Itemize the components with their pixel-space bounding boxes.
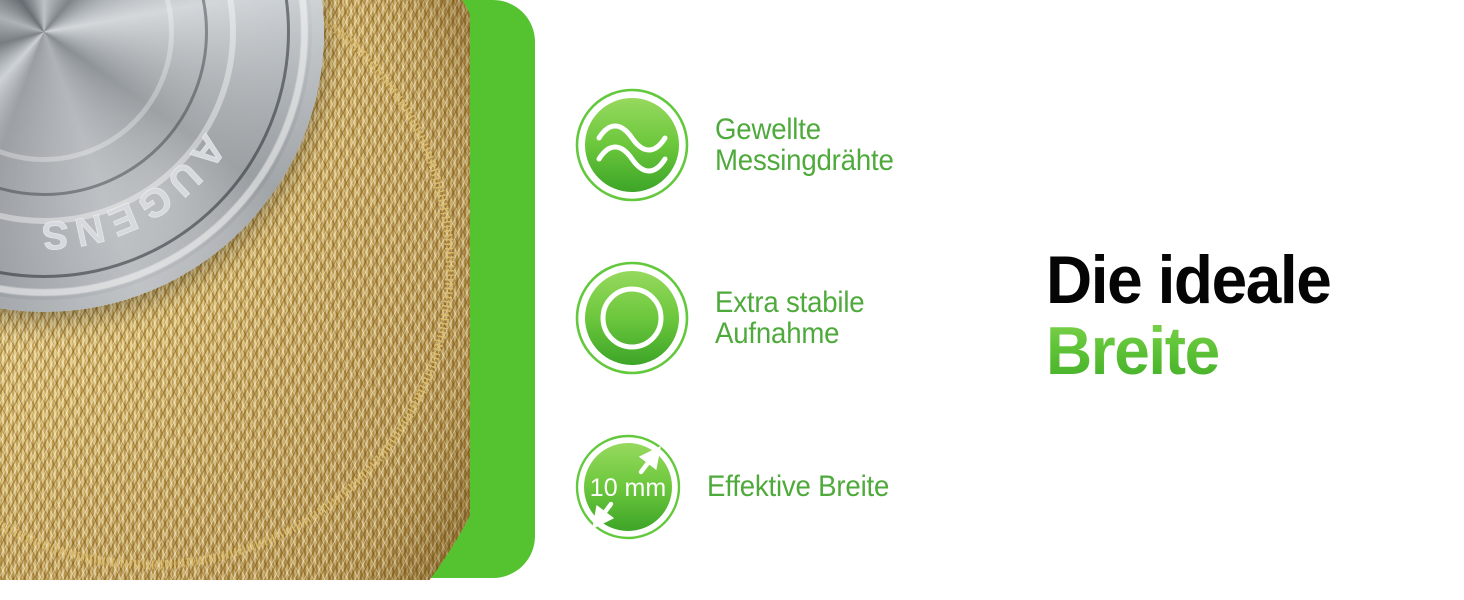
feature-item-wavy-brass-wires: Gewellte Messingdrähte [575,88,1005,202]
headline-line-1: Die ideale [1046,248,1330,313]
width-measure-value: 10 mm [590,474,666,502]
concentric-circle-icon [575,261,689,375]
feature-item-stable-mount: Extra stabile Aufnahme [575,261,1005,375]
feature-label-effective-width: Effektive Breite [707,471,889,502]
feature-list: Gewellte Messingdrähte [575,88,1005,540]
svg-text:AUGENS: AUGENS [19,118,248,284]
headline-line-2: Breite [1046,319,1330,384]
feature-label-stable-mount: Extra stabile Aufnahme [715,287,864,349]
feature-item-effective-width: 10 mm Effektive Breite [575,434,1005,540]
headline: Die ideale Breite [1046,248,1330,383]
product-photo-wire-brush: AUGENS [0,0,470,580]
steel-hub: AUGENS [0,0,324,312]
wavy-lines-icon [575,88,689,202]
width-measure-icon: 10 mm [575,434,681,540]
hub-brand-embossed-text: AUGENS [0,0,324,312]
hub-brand-label: AUGENS [19,118,248,284]
product-banner: AUGENS [0,0,1464,600]
feature-label-wavy-brass-wires: Gewellte Messingdrähte [715,114,894,176]
